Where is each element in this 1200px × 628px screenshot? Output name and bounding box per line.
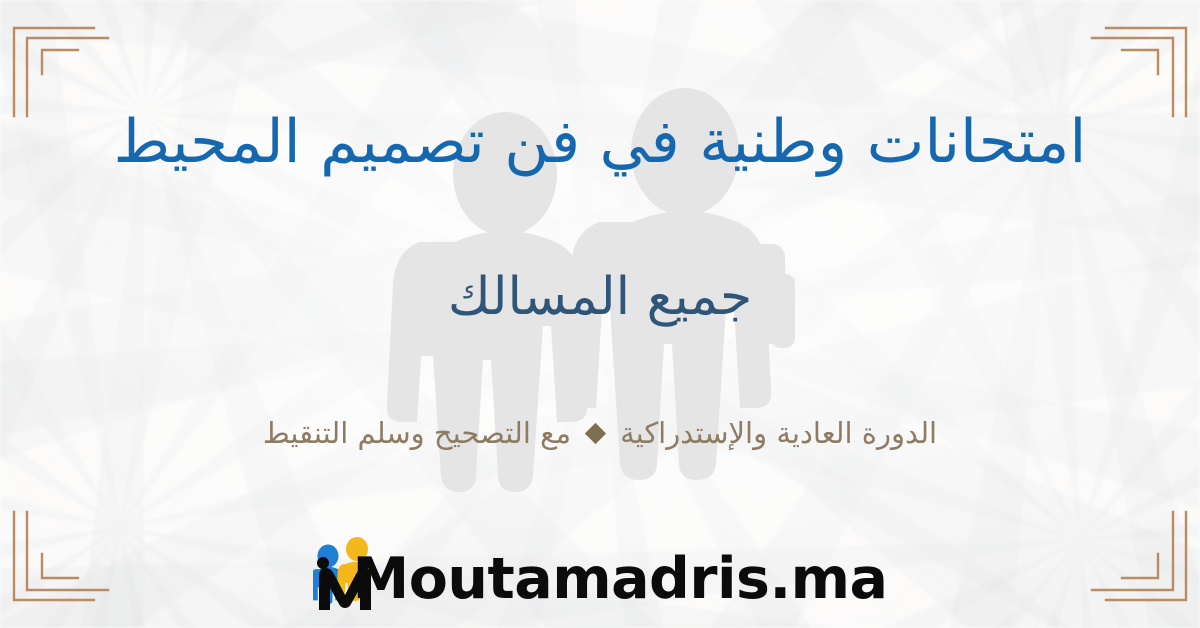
poster-content: امتحانات وطنية في فن تصميم المحيط جميع ا… [0,0,1200,628]
diamond-icon [585,422,606,443]
page-title: امتحانات وطنية في فن تصميم المحيط [0,108,1200,177]
meta-correction-label: مع التصحيح وسلم التنقيط [263,416,571,450]
poster-canvas: امتحانات وطنية في فن تصميم المحيط جميع ا… [0,0,1200,628]
meta-session-label: الدورة العادية والإستدراكية [620,416,937,450]
brand-logo: Moutamadris.ma [0,524,1200,612]
poster-meta-line: الدورة العادية والإستدراكية مع التصحيح و… [0,416,1200,450]
brand-name: Moutamadris.ma [353,551,888,608]
page-subtitle: جميع المسالك [0,268,1200,328]
